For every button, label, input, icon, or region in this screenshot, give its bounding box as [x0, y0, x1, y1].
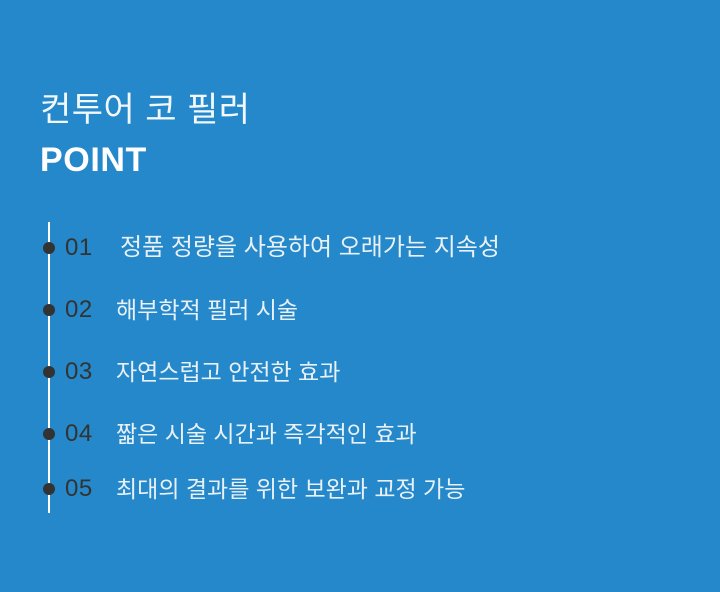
list-item-label: 짧은 시술 시간과 즉각적인 효과 [116, 418, 417, 450]
bullet-dot-icon [43, 242, 55, 254]
list-item: 05 최대의 결과를 위한 보완과 교정 가능 [40, 471, 680, 507]
list-item-number: 03 [65, 357, 111, 387]
list-item: 03 자연스럽고 안전한 효과 [40, 354, 680, 390]
point-list: 01 정품 정량을 사용하여 오래가는 지속성 02 해부학적 필러 시술 03… [40, 222, 680, 514]
promo-slide: 컨투어 코 필러 POINT 01 정품 정량을 사용하여 오래가는 지속성 0… [0, 0, 720, 592]
bullet-dot-icon [43, 483, 55, 495]
list-item-number: 04 [65, 419, 111, 449]
list-item-label: 정품 정량을 사용하여 오래가는 지속성 [120, 232, 500, 264]
list-item-label: 자연스럽고 안전한 효과 [116, 356, 340, 388]
bullet-dot-icon [43, 304, 55, 316]
bullet-dot-icon [43, 428, 55, 440]
list-item-number: 05 [65, 474, 111, 504]
list-item-number: 02 [65, 295, 111, 325]
page-title-korean: 컨투어 코 필러 [40, 88, 660, 132]
list-item-label: 최대의 결과를 위한 보완과 교정 가능 [116, 473, 465, 505]
list-item: 04 짧은 시술 시간과 즉각적인 효과 [40, 416, 680, 452]
list-item: 02 해부학적 필러 시술 [40, 292, 680, 328]
list-item-number: 01 [65, 233, 111, 263]
bullet-dot-icon [43, 366, 55, 378]
list-item-label: 해부학적 필러 시술 [116, 294, 298, 326]
heading-block: 컨투어 코 필러 POINT [40, 88, 660, 180]
page-title-point: POINT [40, 140, 660, 180]
list-item: 01 정품 정량을 사용하여 오래가는 지속성 [40, 230, 680, 266]
